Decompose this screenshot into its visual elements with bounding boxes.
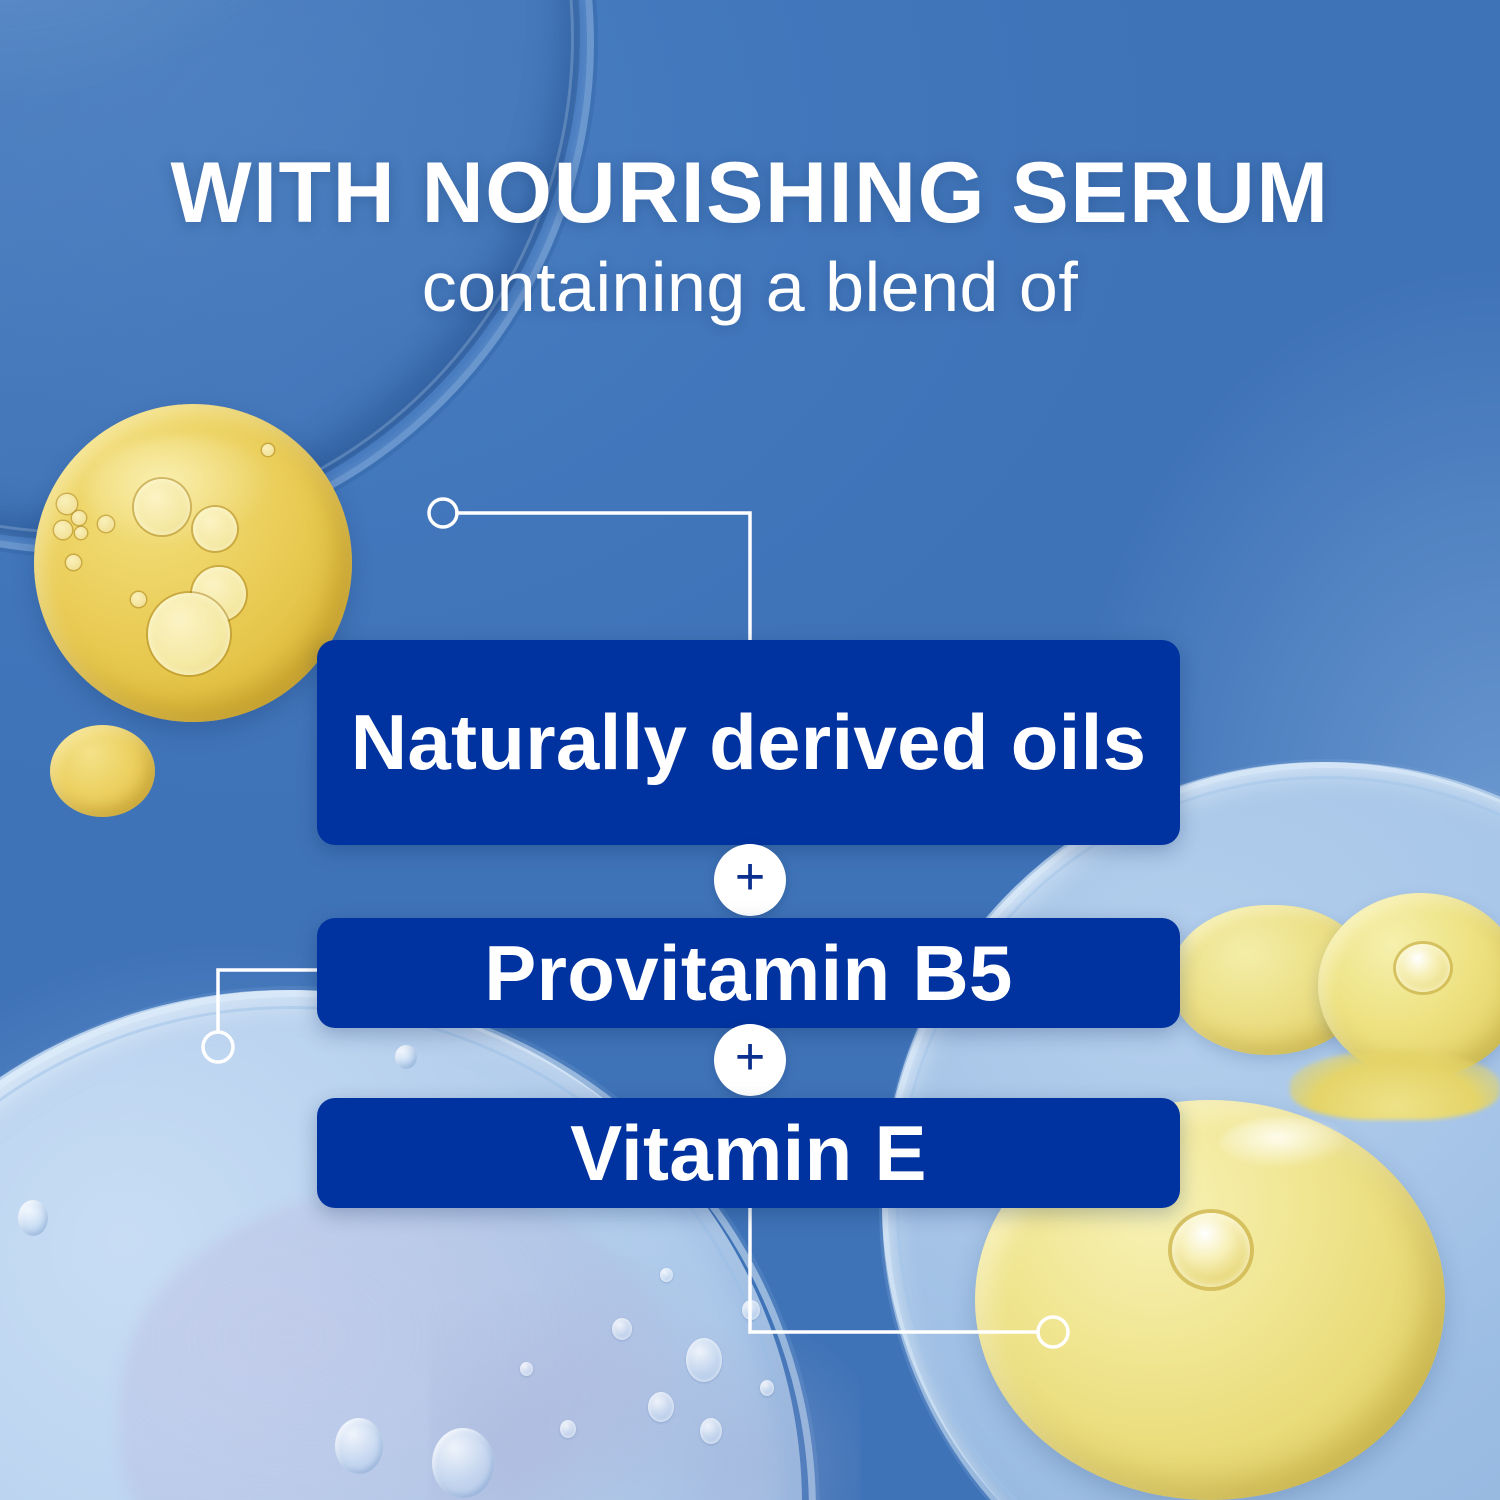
serum-blob-medium-droplet	[1396, 944, 1450, 992]
oil-bubble	[148, 593, 230, 675]
serum-pool-large-gloss	[1220, 1118, 1350, 1168]
water-droplet	[432, 1428, 494, 1498]
oil-droplet-small	[50, 725, 155, 817]
headline-primary: WITH NOURISHING SERUM	[0, 150, 1500, 236]
foam-bubble	[700, 1418, 722, 1444]
ingredient-label: Naturally derived oils	[351, 702, 1147, 783]
oil-bubble	[72, 511, 86, 525]
oil-bubble	[57, 494, 77, 514]
ingredient-label: Provitamin B5	[484, 928, 1012, 1019]
water-droplet	[18, 1200, 48, 1236]
serum-pool-large-droplet	[1172, 1213, 1250, 1287]
serum-pool-edge	[1290, 1050, 1500, 1120]
oil-bubble	[131, 592, 146, 607]
oil-bubble	[193, 507, 237, 551]
plus-glyph: +	[735, 1031, 765, 1083]
foam-bubble	[648, 1392, 674, 1422]
water-droplet	[335, 1418, 383, 1474]
water-droplet	[395, 1045, 417, 1069]
foam-bubble	[660, 1268, 673, 1282]
headline-secondary: containing a blend of	[0, 252, 1500, 322]
oil-bubble	[134, 479, 190, 535]
plus-glyph: +	[735, 851, 765, 903]
oil-bubble	[54, 521, 72, 539]
product-ingredient-infographic: WITH NOURISHING SERUM containing a blend…	[0, 0, 1500, 1500]
ingredient-box-naturally-derived-oils: Naturally derived oils	[317, 640, 1180, 845]
oil-bubble	[75, 527, 87, 539]
foam-bubble	[686, 1338, 722, 1382]
foam-bubble	[760, 1380, 774, 1396]
foam-bubble	[520, 1362, 533, 1376]
ingredient-label: Vitamin E	[570, 1108, 927, 1199]
oil-bubble	[66, 555, 81, 570]
foam-bubble	[742, 1300, 760, 1320]
ingredient-box-vitamin-e: Vitamin E	[317, 1098, 1180, 1208]
foam-bubble	[612, 1318, 632, 1340]
plus-connector-icon-1: +	[714, 844, 786, 916]
oil-bubble	[262, 444, 274, 456]
foam-bubble	[560, 1420, 576, 1438]
oil-bubble	[98, 516, 114, 532]
foam-bubbles	[430, 1255, 860, 1500]
plus-connector-icon-2: +	[714, 1024, 786, 1096]
ingredient-box-provitamin-b5: Provitamin B5	[317, 918, 1180, 1028]
